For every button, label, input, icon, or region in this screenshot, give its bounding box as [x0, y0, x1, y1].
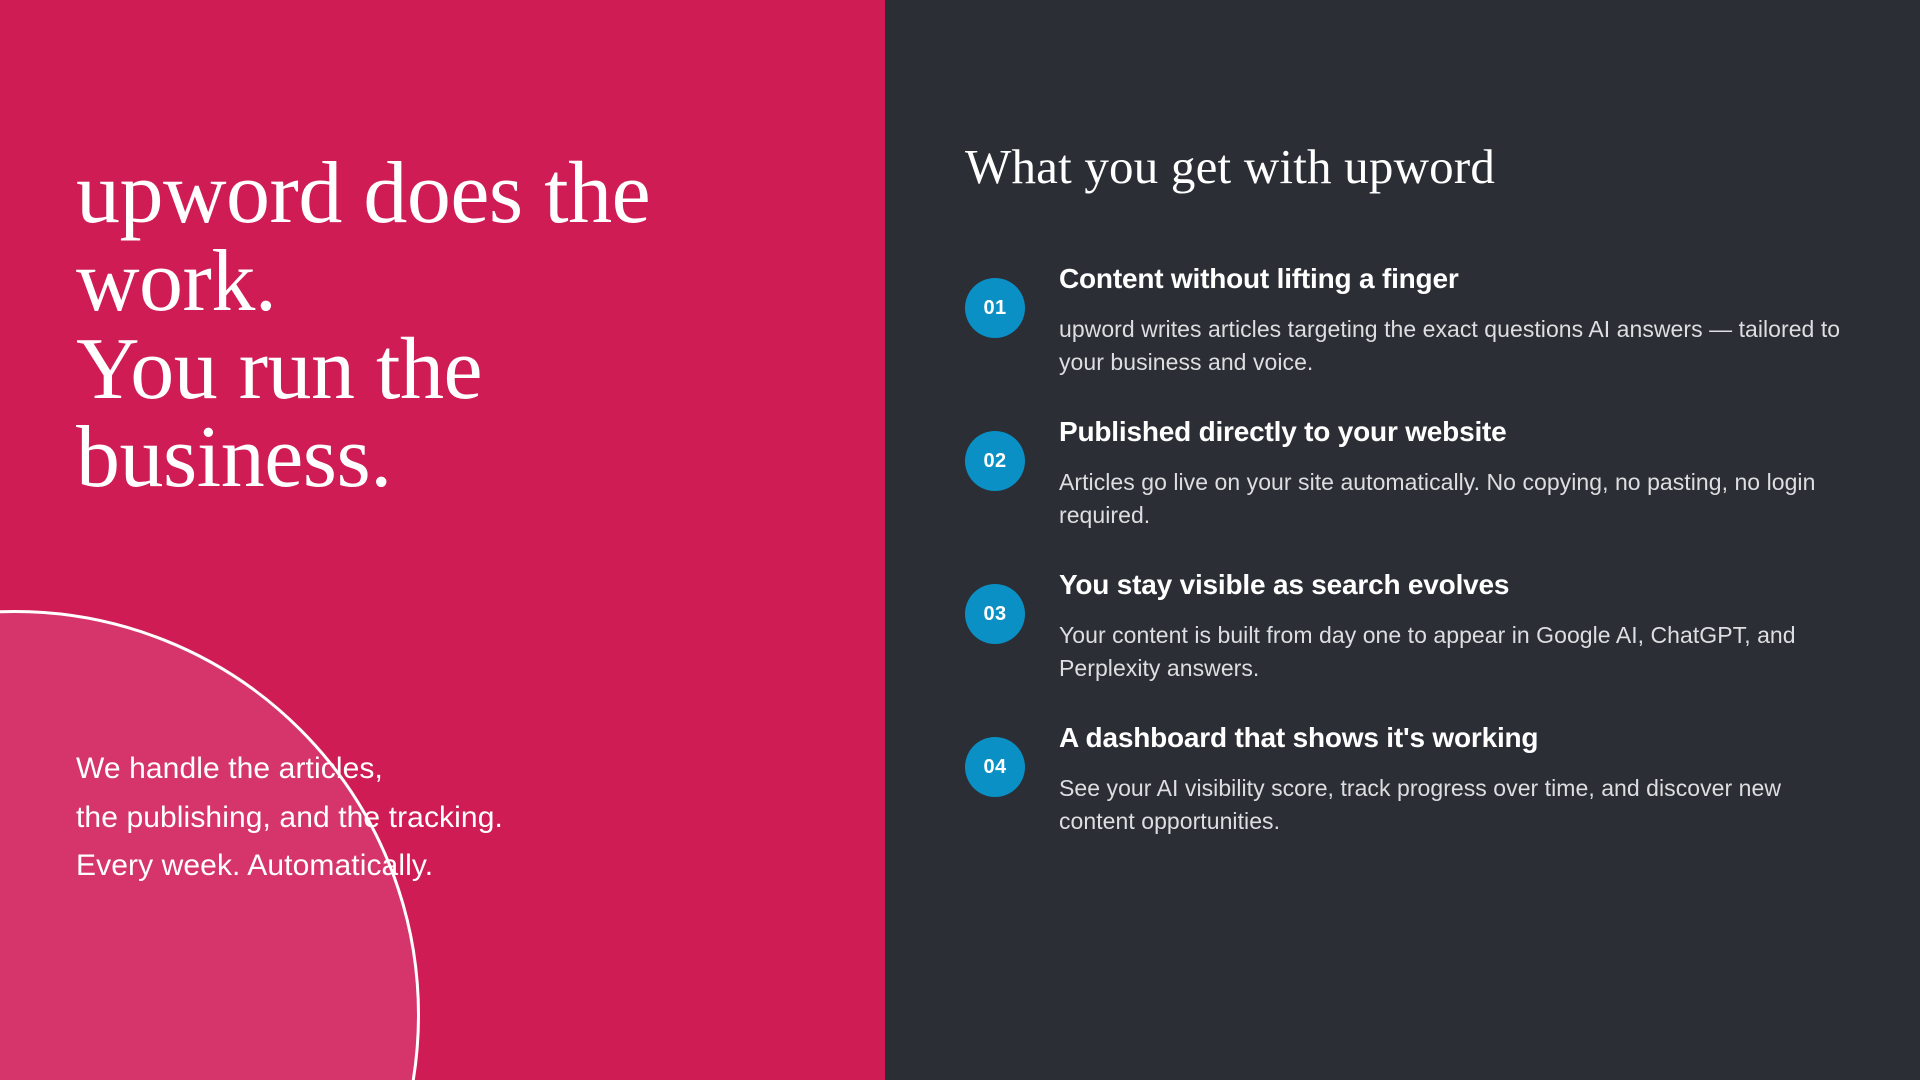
feature-list: 01 Content without lifting a finger upwo…: [965, 262, 1865, 839]
subtitle-text: We handle the articles, the publishing, …: [76, 745, 716, 891]
feature-number-badge-04: 04: [965, 737, 1025, 797]
left-panel-content: upword does the work. You run the busine…: [0, 0, 885, 1080]
list-item: 03 You stay visible as search evolves Yo…: [965, 568, 1865, 686]
headline-line-3: You run the: [76, 326, 716, 414]
list-item: 04 A dashboard that shows it's working S…: [965, 721, 1865, 839]
right-panel: What you get with upword 01 Content with…: [885, 0, 1920, 1080]
headline-line-4: business.: [76, 414, 716, 502]
list-item: 02 Published directly to your website Ar…: [965, 415, 1865, 533]
feature-title-02: Published directly to your website: [1059, 415, 1865, 448]
feature-number-badge-03: 03: [965, 584, 1025, 644]
slide-root: upword does the work. You run the busine…: [0, 0, 1920, 1080]
feature-description-01: upword writes articles targeting the exa…: [1059, 313, 1849, 378]
subtitle-line-2: the publishing, and the tracking.: [76, 794, 716, 843]
left-panel: upword does the work. You run the busine…: [0, 0, 885, 1080]
feature-number-badge-01: 01: [965, 278, 1025, 338]
subtitle-line-1: We handle the articles,: [76, 745, 716, 794]
feature-title-04: A dashboard that shows it's working: [1059, 721, 1865, 754]
subtitle-line-3: Every week. Automatically.: [76, 842, 716, 891]
feature-title-03: You stay visible as search evolves: [1059, 568, 1865, 601]
list-item: 01 Content without lifting a finger upwo…: [965, 262, 1865, 380]
feature-title-01: Content without lifting a finger: [1059, 262, 1865, 295]
feature-description-04: See your AI visibility score, track prog…: [1059, 772, 1849, 837]
feature-description-03: Your content is built from day one to ap…: [1059, 619, 1849, 684]
feature-description-02: Articles go live on your site automatica…: [1059, 466, 1849, 531]
page-title: upword does the work. You run the busine…: [76, 150, 716, 502]
section-heading: What you get with upword: [965, 140, 1495, 194]
headline-line-1: upword does the: [76, 150, 716, 238]
feature-number-badge-02: 02: [965, 431, 1025, 491]
headline-line-2: work.: [76, 238, 716, 326]
